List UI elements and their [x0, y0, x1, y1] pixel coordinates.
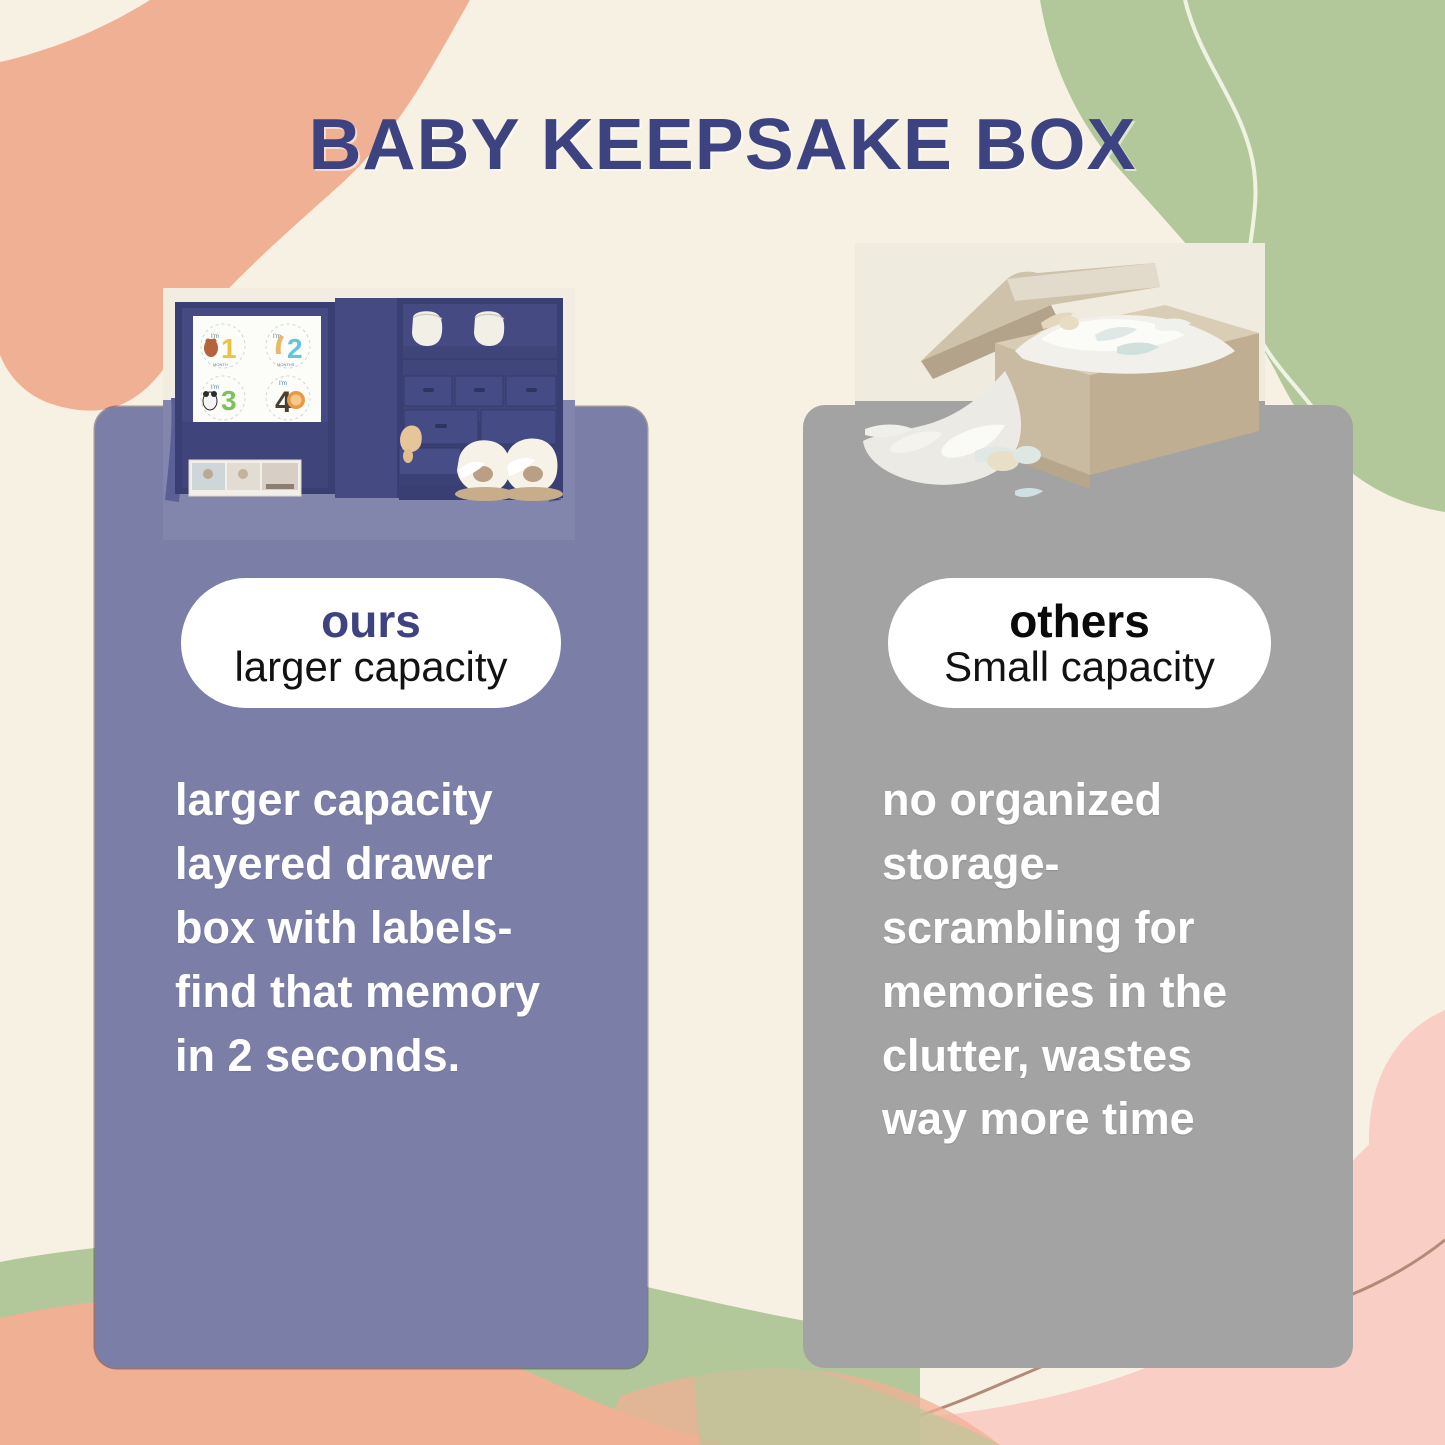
box-spine [335, 298, 397, 498]
badge-ours-subtitle: larger capacity [234, 646, 507, 689]
drawstring-pouch-left [412, 311, 442, 346]
milestone-card-sheet: I'm 1 MONTH I'm 2 MONTHS I'm 3 I'm [193, 316, 321, 426]
page-title: BABY KEEPSAKE BOX [0, 104, 1445, 186]
badge-ours: ours larger capacity [181, 578, 561, 708]
drawstring-pouch-right [474, 311, 504, 346]
badge-ours-title: ours [321, 598, 421, 644]
svg-text:MONTH: MONTH [213, 362, 228, 367]
badge-others-subtitle: Small capacity [944, 646, 1215, 689]
product-photo-ours: I'm 1 MONTH I'm 2 MONTHS I'm 3 I'm [163, 288, 575, 540]
badge-others: others Small capacity [888, 578, 1271, 708]
body-copy-others: no organized storage-scrambling for memo… [882, 768, 1282, 1151]
svg-text:2: 2 [287, 333, 303, 364]
drawer-row-lower-2 [481, 410, 556, 444]
infographic-canvas: BABY KEEPSAKE BOX I'm 1 [0, 0, 1445, 1445]
svg-text:3: 3 [221, 385, 237, 416]
photo-print-strip [189, 460, 301, 496]
svg-text:1: 1 [221, 333, 237, 364]
svg-text:MONTHS: MONTHS [277, 362, 295, 367]
product-photo-others [855, 243, 1265, 543]
svg-text:I'm: I'm [211, 385, 219, 391]
badge-others-title: others [1009, 598, 1150, 644]
body-copy-ours: larger capacity layered drawer box with … [175, 768, 575, 1087]
drawer-row-upper [404, 376, 556, 406]
